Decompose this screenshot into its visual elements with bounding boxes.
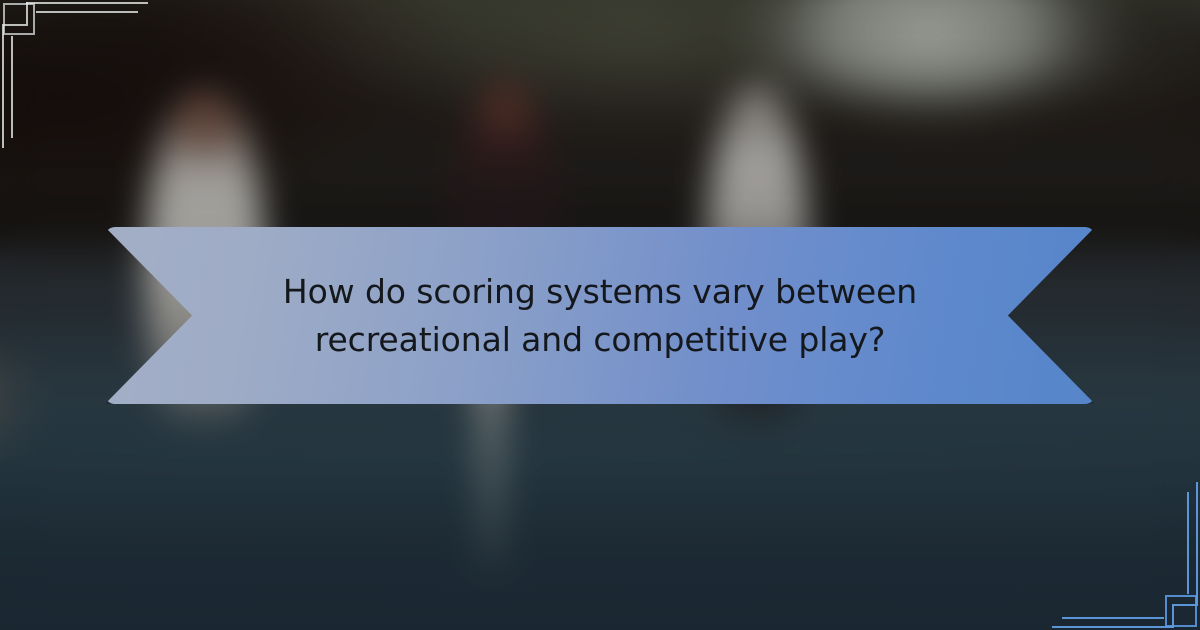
corner-inner-horizontal-line-top-left xyxy=(36,11,138,13)
corner-elbow-horizontal-bottom-right xyxy=(1174,604,1198,606)
question-line-2: recreational and competitive play? xyxy=(315,321,886,359)
corner-bracket-bottom-right xyxy=(1025,455,1200,630)
corner-elbow-vertical-top-left xyxy=(26,2,28,26)
question-line-1: How do scoring systems vary between xyxy=(283,273,917,311)
corner-bracket-top-left xyxy=(0,0,175,175)
corner-outer-vertical-line-bottom-right xyxy=(1196,482,1198,604)
banner-card: How do scoring systems vary between recr… xyxy=(0,0,1200,630)
corner-square-bottom-right xyxy=(1165,595,1197,627)
corner-elbow-vertical-bottom-right xyxy=(1172,604,1174,628)
corner-inner-vertical-line-bottom-right xyxy=(1187,492,1189,594)
corner-square-top-left xyxy=(3,3,35,35)
ribbon-banner: How do scoring systems vary between recr… xyxy=(105,227,1095,404)
corner-elbow-horizontal-top-left xyxy=(2,24,26,26)
corner-outer-horizontal-line-top-left xyxy=(26,2,148,4)
corner-inner-horizontal-line-bottom-right xyxy=(1062,617,1164,619)
ribbon-text-block: How do scoring systems vary between recr… xyxy=(105,227,1095,404)
corner-outer-vertical-line-top-left xyxy=(2,26,4,148)
corner-outer-horizontal-line-bottom-right xyxy=(1052,626,1174,628)
corner-inner-vertical-line-top-left xyxy=(11,36,13,138)
